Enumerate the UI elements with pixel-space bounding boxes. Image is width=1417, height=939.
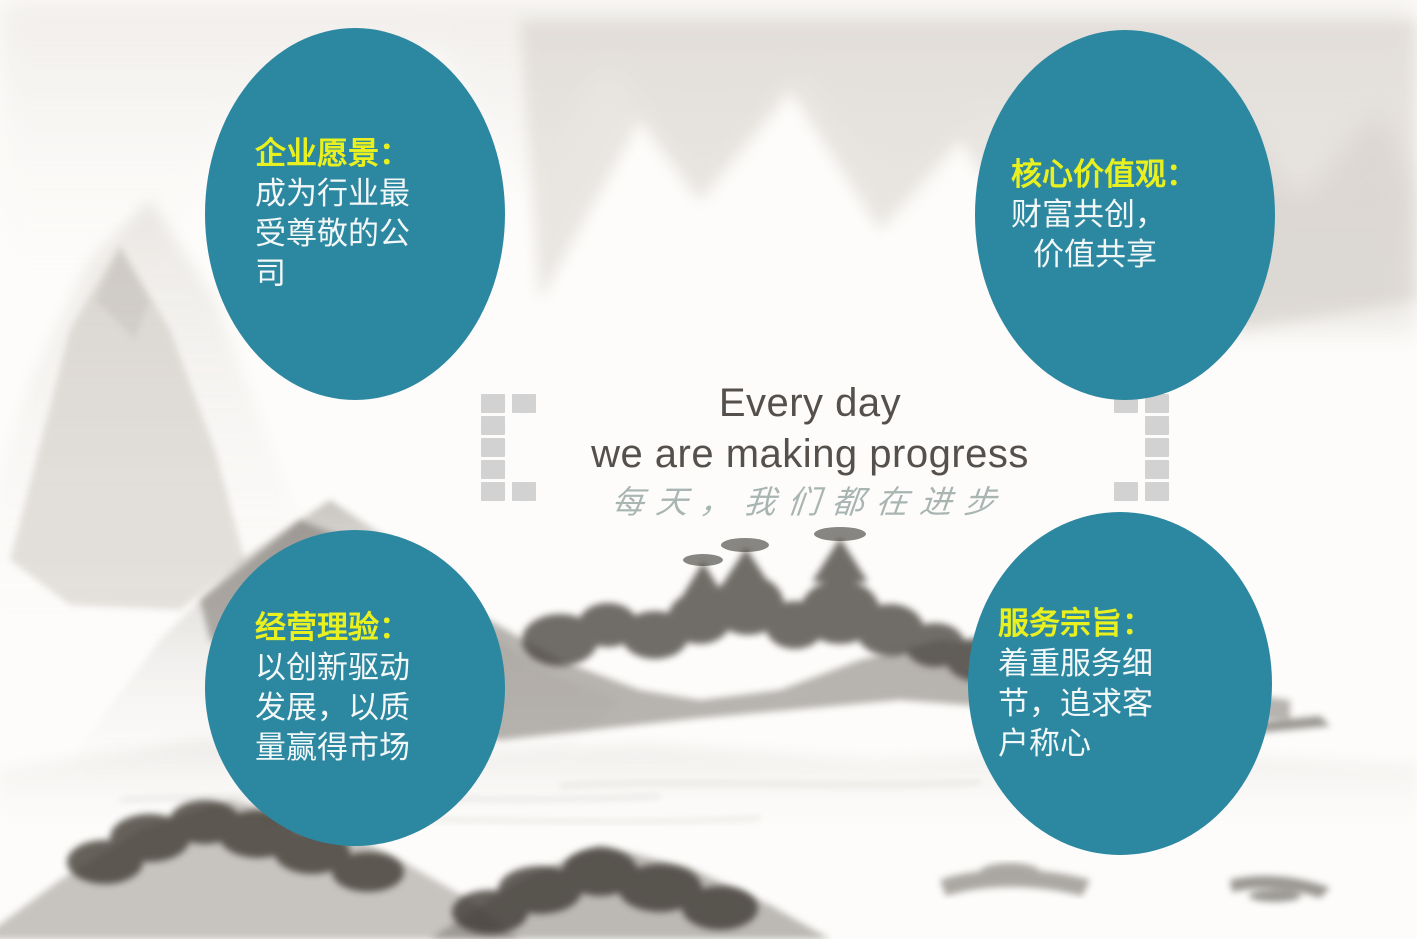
- bubble-service-purpose-title: 服务宗旨：: [998, 604, 1272, 644]
- bubble-management-philosophy-body-line-2: 发展，以质: [255, 688, 505, 728]
- bubble-management-philosophy-body-line-3: 量赢得市场: [255, 728, 505, 768]
- slogan-line-1: Every day: [510, 378, 1110, 428]
- bubble-service-purpose-body: 着重服务细 节，追求客 户称心: [998, 644, 1272, 764]
- bubble-core-values-body-line-1: 财富共创，: [1011, 195, 1275, 235]
- bubble-management-philosophy-body-line-1: 以创新驱动: [255, 648, 505, 688]
- bubble-core-values-title: 核心价值观：: [1011, 155, 1275, 195]
- bubble-vision-title: 企业愿景：: [255, 134, 505, 174]
- bubble-core-values-body-line-2: 价值共享: [1011, 235, 1275, 275]
- bracket-right-icon: [1114, 394, 1170, 500]
- bubble-management-philosophy[interactable]: 经营理验： 以创新驱动 发展，以质 量赢得市场: [205, 530, 505, 846]
- bubble-management-philosophy-body: 以创新驱动 发展，以质 量赢得市场: [255, 648, 505, 768]
- bubble-service-purpose-body-line-1: 着重服务细: [998, 644, 1272, 684]
- slogan-line-2: we are making progress: [510, 428, 1110, 480]
- bubble-core-values-body: 财富共创， 价值共享: [1011, 195, 1275, 275]
- bubble-service-purpose-body-line-2: 节，追求客: [998, 684, 1272, 724]
- slogan-calligraphy-line: 每天，我们都在进步: [508, 482, 1112, 522]
- bubble-management-philosophy-title: 经营理验：: [255, 608, 505, 648]
- bubble-vision-body-line-2: 受尊敬的公: [255, 214, 505, 254]
- bubble-core-values[interactable]: 核心价值观： 财富共创， 价值共享: [975, 30, 1275, 400]
- slide-canvas: Every day we are making progress 每天，我们都在…: [0, 0, 1417, 939]
- bubble-vision-body-line-1: 成为行业最: [255, 174, 505, 214]
- bubble-vision-body-line-3: 司: [255, 254, 505, 294]
- bubble-service-purpose[interactable]: 服务宗旨： 着重服务细 节，追求客 户称心: [968, 512, 1272, 855]
- bubble-service-purpose-body-line-3: 户称心: [998, 724, 1272, 764]
- bubble-vision[interactable]: 企业愿景： 成为行业最 受尊敬的公 司: [205, 28, 505, 400]
- center-slogan: Every day we are making progress 每天，我们都在…: [510, 378, 1110, 522]
- bubble-vision-body: 成为行业最 受尊敬的公 司: [255, 174, 505, 294]
